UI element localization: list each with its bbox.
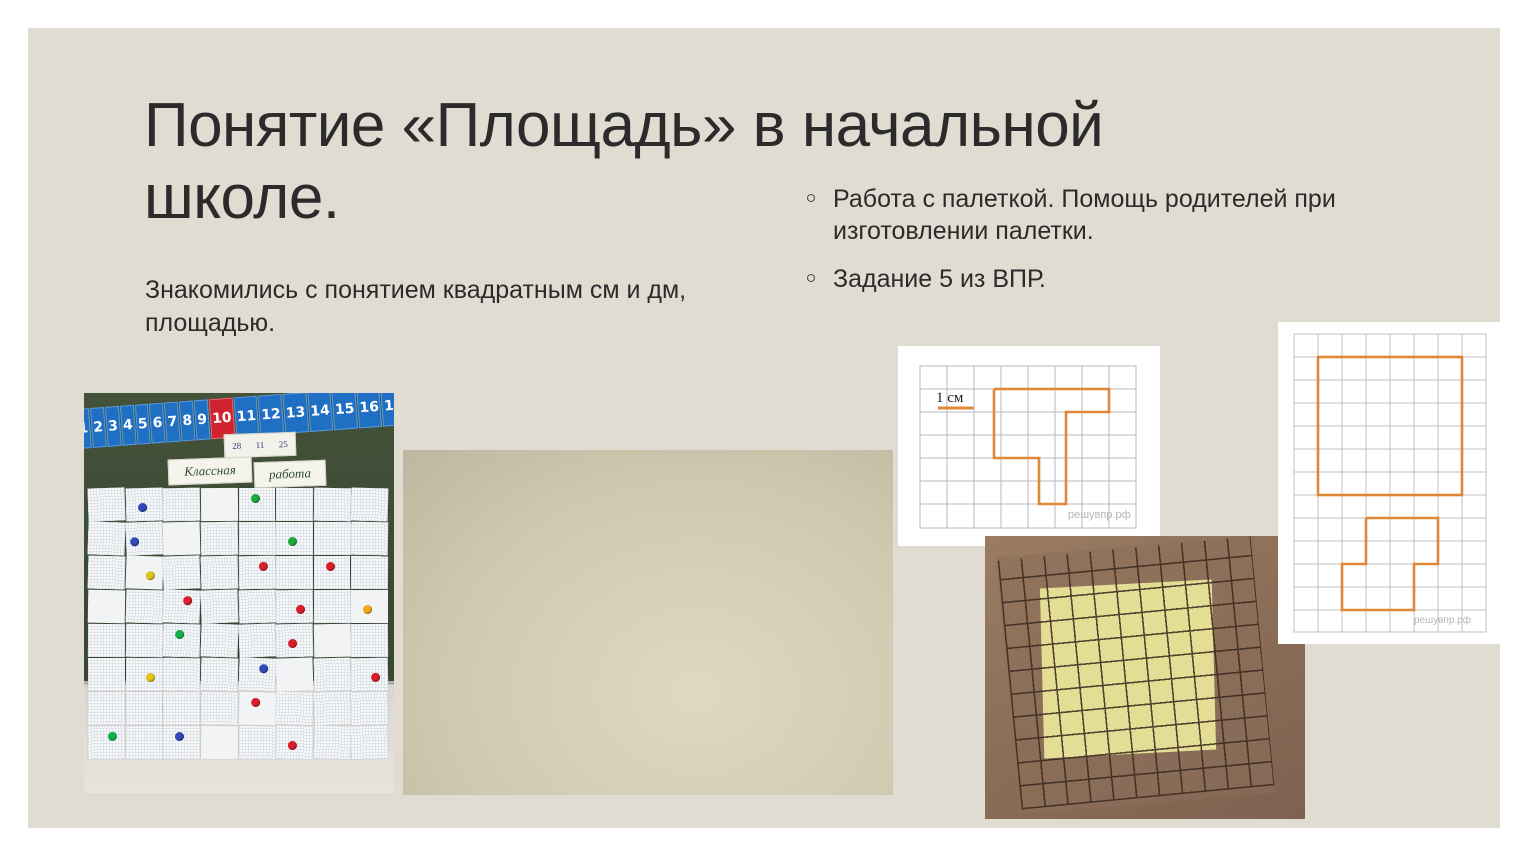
subtitle-text: Знакомились с понятием квадратным см и д… (145, 274, 725, 340)
number-card-2: 2 (90, 407, 107, 448)
number-card-9: 9 (194, 399, 211, 440)
bullet-text: Работа с палеткой. Помощь родителей при … (833, 185, 1336, 245)
magnet (251, 698, 260, 707)
magnet (288, 639, 297, 648)
bullet-list: Работа с палеткой. Помощь родителей при … (803, 183, 1413, 311)
watermark-label: решувпр.рф (1414, 614, 1471, 626)
number-card-5: 5 (134, 404, 151, 445)
magnet (183, 596, 192, 605)
grid-paper-sheet (163, 555, 201, 589)
grid-paper-sheet (351, 658, 388, 692)
grid-paper-sheet (88, 590, 125, 624)
grid-paper-sheet (163, 589, 201, 623)
grid-paper-sheet (125, 726, 162, 759)
grid-paper-sheet (200, 623, 238, 657)
grid-paper-sheet (163, 522, 200, 556)
grid-paper-sheet (351, 692, 388, 726)
grid-paper-sheet (238, 657, 276, 691)
grid-paper-sheet (314, 522, 351, 555)
grid-paper-sheet (125, 555, 163, 589)
photo-chalkboard: 1234567891011121314151617 28 11 25 Класс… (84, 393, 394, 793)
grid-paper-sheet (276, 556, 313, 589)
grid-paper-sheet (88, 658, 125, 691)
bullet-circle-icon (807, 194, 815, 202)
magnet (326, 562, 335, 571)
grid-paper-sheet (314, 556, 351, 589)
magnet (258, 562, 267, 571)
date-card: 28 11 25 (224, 432, 297, 458)
slide-canvas: Понятие «Площадь» в начальной школе. Зна… (28, 28, 1500, 828)
grid-paper-sheet (163, 624, 200, 658)
scale-label: 1 см (936, 390, 964, 406)
magnet (175, 630, 184, 639)
grid-paper-sheet (313, 488, 350, 522)
grid-paper-sheet (351, 725, 389, 759)
grid-paper-sheet (88, 726, 125, 760)
number-card-3: 3 (105, 406, 122, 447)
grid-paper-sheet (313, 624, 350, 658)
grid-paper-sheet (238, 556, 275, 590)
magnet (175, 732, 184, 741)
grid-paper-sheet (125, 488, 162, 522)
number-card-16: 16 (356, 393, 382, 428)
grid-paper-sheet (201, 522, 238, 556)
grid-paper-sheet (276, 522, 313, 555)
worksheet-small-figure: 1 см решувпр.рф (898, 346, 1160, 546)
magnet (296, 605, 305, 614)
magnet (259, 664, 268, 673)
grid-paper-sheet (88, 624, 125, 657)
worksheet-small: 1 см решувпр.рф (898, 346, 1160, 546)
grid-paper-sheet (351, 590, 388, 623)
grid-paper-sheet (163, 692, 200, 725)
grid-paper-sheet (87, 487, 125, 521)
magnet (371, 673, 380, 682)
label-classwork-left: Классная (168, 457, 253, 486)
number-card-12: 12 (258, 394, 284, 436)
grid-paper-sheet (276, 691, 314, 725)
number-card-13: 13 (282, 393, 308, 434)
grid-paper-sheet (276, 488, 313, 521)
date-year: 25 (279, 439, 288, 449)
grid-paper-sheet (200, 589, 238, 623)
grid-paper-sheet (200, 658, 237, 692)
grid-paper-sheet (276, 726, 313, 760)
grid-paper-sheet (313, 725, 351, 759)
grid-paper-sheet (313, 691, 351, 725)
bullet-text: Задание 5 из ВПР. (833, 265, 1046, 293)
grid-paper-sheet (238, 590, 275, 624)
grid-paper-sheet (276, 590, 313, 624)
number-card-17: 17 (381, 393, 394, 427)
grid-paper-sheet (351, 624, 388, 657)
grid-paper-sheet (351, 488, 388, 522)
grid-paper-sheet (351, 556, 388, 589)
grid-paper-sheet (125, 590, 162, 624)
worksheet-tall-figures: решувпр.рф (1278, 322, 1503, 644)
magnet (251, 494, 260, 503)
bullet-circle-icon (807, 274, 815, 282)
magnet (138, 503, 147, 512)
grid-paper-sheet (125, 521, 163, 555)
grid-paper-sheet (163, 488, 200, 522)
magnet (146, 673, 155, 682)
grid-paper-sheet (125, 624, 162, 658)
grid-paper-sheet (201, 692, 238, 726)
grid-paper-sheet (313, 658, 350, 692)
grid-paper-sheet (276, 624, 313, 658)
grid-paper-sheet (276, 657, 314, 691)
palette-grid (998, 536, 1275, 809)
grid-paper-sheet (238, 692, 275, 726)
magnet (145, 571, 154, 580)
magnet (108, 732, 117, 741)
label-classwork-right: работа (254, 460, 327, 488)
grid-paper-wall (88, 488, 388, 753)
list-item: Работа с палеткой. Помощь родителей при … (803, 183, 1413, 247)
grid-paper-sheet (163, 726, 200, 759)
grid-paper-sheet (87, 521, 125, 555)
slide-page: Понятие «Площадь» в начальной школе. Зна… (0, 0, 1533, 864)
magnet (288, 537, 297, 546)
grid-paper-sheet (126, 692, 163, 725)
number-card-6: 6 (149, 403, 166, 444)
number-card-14: 14 (307, 393, 333, 432)
grid-paper-sheet (238, 623, 276, 657)
grid-paper-sheet (238, 522, 275, 555)
grid-paper-sheet (163, 658, 200, 692)
grid-paper-sheet (314, 590, 351, 623)
floor-surface (403, 450, 893, 795)
grid-paper-sheet (201, 488, 238, 521)
grid-paper-sheet (239, 488, 276, 521)
number-card-4: 4 (120, 405, 137, 446)
grid-paper-sheet (201, 726, 238, 759)
worksheet-tall: решувпр.рф (1278, 322, 1503, 644)
number-card-11: 11 (233, 396, 259, 438)
grid-paper-sheet (200, 556, 237, 590)
grid-paper-sheet (88, 692, 125, 725)
date-month: 11 (255, 440, 264, 450)
number-card-7: 7 (164, 402, 181, 443)
number-card-15: 15 (331, 393, 357, 430)
magnet (288, 741, 297, 750)
number-card-8: 8 (179, 400, 196, 441)
grid-paper-sheet (238, 726, 275, 760)
date-day: 28 (232, 441, 241, 451)
list-item: Задание 5 из ВПР. (803, 263, 1413, 295)
grid-paper-sheet (88, 556, 125, 590)
grid-paper-sheet (351, 522, 388, 556)
watermark-label: решувпр.рф (1068, 509, 1131, 521)
photo-palette (985, 536, 1305, 819)
magnet (130, 537, 139, 546)
grid-paper-sheet (125, 658, 162, 691)
magnet (363, 605, 372, 614)
photo-children (403, 450, 893, 795)
